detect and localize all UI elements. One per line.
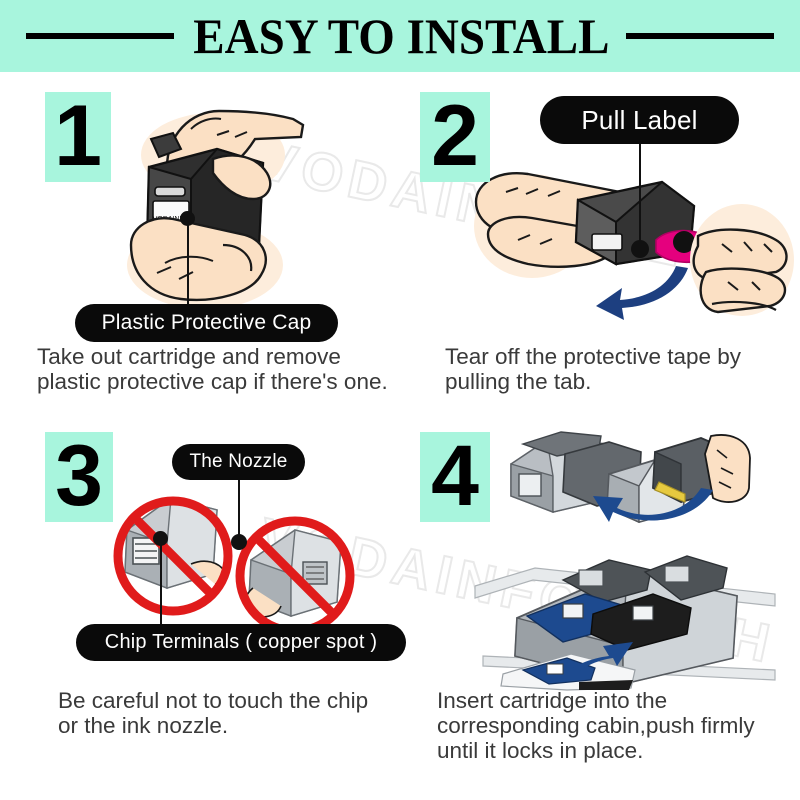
step-3-caption: Be careful not to touch the chip or the … bbox=[58, 688, 408, 738]
step-4-illustration-top bbox=[505, 430, 750, 555]
header-rule-left bbox=[26, 33, 174, 39]
callout-chip-terminals: Chip Terminals ( copper spot ) bbox=[76, 624, 406, 661]
step-2-illustration bbox=[470, 148, 790, 338]
step-3-nozzle-leader-line bbox=[238, 476, 240, 542]
step-badge-1: 1 bbox=[45, 92, 111, 182]
step-badge-3: 3 bbox=[45, 432, 113, 522]
step-1-caption: Take out cartridge and remove plastic pr… bbox=[37, 344, 417, 394]
step-4-caption: Insert cartridge into the corresponding … bbox=[437, 688, 797, 764]
callout-the-nozzle: The Nozzle bbox=[172, 444, 305, 480]
step-4-illustration-bottom bbox=[475, 550, 775, 690]
page-title: EASY TO INSTALL bbox=[193, 11, 609, 61]
step-1-leader-line bbox=[187, 218, 189, 308]
callout-plastic-protective-cap: Plastic Protective Cap bbox=[75, 304, 338, 342]
step-2-caption: Tear off the protective tape by pulling … bbox=[445, 344, 795, 394]
step-1-illustration: VODAINFO TECH bbox=[95, 95, 325, 310]
step-3-chip-leader-line bbox=[160, 540, 162, 628]
step-3-illustration bbox=[113, 478, 403, 638]
step-badge-4: 4 bbox=[420, 432, 490, 522]
step-badge-2: 2 bbox=[420, 92, 490, 182]
header-banner: EASY TO INSTALL bbox=[0, 0, 800, 72]
header-rule-right bbox=[626, 33, 774, 39]
step-2-leader-line bbox=[639, 140, 641, 248]
callout-pull-label: Pull Label bbox=[540, 96, 739, 144]
infographic-page: EASY TO INSTALL VODAINFO TECH VODAINFO T… bbox=[0, 0, 800, 800]
